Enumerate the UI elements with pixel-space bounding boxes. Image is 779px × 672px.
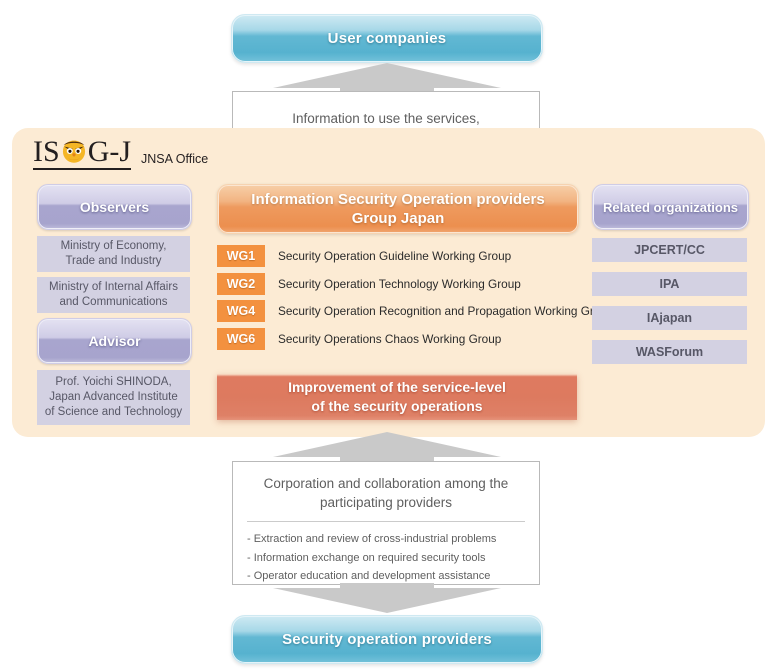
advisor-header: Advisor [37, 318, 192, 364]
observers-header: Observers [37, 184, 192, 230]
wg-row-3: WG6 Security Operations Chaos Working Gr… [217, 328, 501, 350]
isog-j-header: Information Security Operation providers… [217, 184, 579, 234]
isog-j-logo: IS G-J JNSA Office [33, 136, 208, 170]
collaboration-bullet-1: - Information exchange on required secur… [247, 549, 539, 568]
observer-item-1: Ministry of Internal Affairs and Communi… [37, 277, 190, 313]
advisor-header-label: Advisor [88, 333, 140, 349]
logo-text-after: G-J [88, 136, 131, 167]
organization-item-0: JPCERT/CC [592, 238, 747, 262]
wg-name-2: Security Operation Recognition and Propa… [278, 304, 614, 318]
wg-tag-2: WG4 [217, 300, 265, 322]
organization-item-3: WASForum [592, 340, 747, 364]
wg-row-1: WG2 Security Operation Technology Workin… [217, 273, 521, 295]
logo-wordmark: IS G-J [33, 136, 131, 170]
improvement-box: Improvement of the service-level of the … [217, 374, 577, 420]
owl-icon [61, 138, 87, 164]
user-companies-label: User companies [328, 30, 447, 47]
related-organizations-label: Related organizations [603, 200, 738, 215]
logo-text-before: IS [33, 136, 60, 167]
collaboration-note-divider [247, 521, 525, 522]
wg-tag-3: WG6 [217, 328, 265, 350]
arrow-down-to-providers [273, 583, 501, 613]
collaboration-note-title: Corporation and collaboration among the … [233, 474, 539, 512]
security-operation-providers-box: Security operation providers [231, 615, 543, 664]
organization-item-2: IAjapan [592, 306, 747, 330]
wg-name-3: Security Operations Chaos Working Group [278, 332, 501, 346]
collaboration-bullet-0: - Extraction and review of cross-industr… [247, 530, 539, 549]
information-note-line-1: Information to use the services, [292, 109, 480, 128]
collaboration-bullet-list: - Extraction and review of cross-industr… [247, 530, 539, 586]
wg-name-0: Security Operation Guideline Working Gro… [278, 249, 511, 263]
organization-item-1: IPA [592, 272, 747, 296]
user-companies-box: User companies [231, 14, 543, 63]
advisor-item-0: Prof. Yoichi SHINODA, Japan Advanced Ins… [37, 370, 190, 425]
wg-tag-0: WG1 [217, 245, 265, 267]
arrow-up-to-user-companies [273, 63, 501, 93]
security-operation-providers-label: Security operation providers [282, 631, 492, 648]
jnsa-office-label: JNSA Office [141, 152, 208, 170]
wg-row-0: WG1 Security Operation Guideline Working… [217, 245, 511, 267]
collaboration-note-box: Corporation and collaboration among the … [232, 461, 540, 585]
arrow-up-from-collaboration [273, 432, 501, 462]
observer-item-0: Ministry of Economy, Trade and Industry [37, 236, 190, 272]
wg-row-2: WG4 Security Operation Recognition and P… [217, 300, 614, 322]
related-organizations-header: Related organizations [592, 184, 749, 230]
wg-tag-1: WG2 [217, 273, 265, 295]
observers-header-label: Observers [80, 199, 149, 215]
wg-name-1: Security Operation Technology Working Gr… [278, 277, 521, 291]
